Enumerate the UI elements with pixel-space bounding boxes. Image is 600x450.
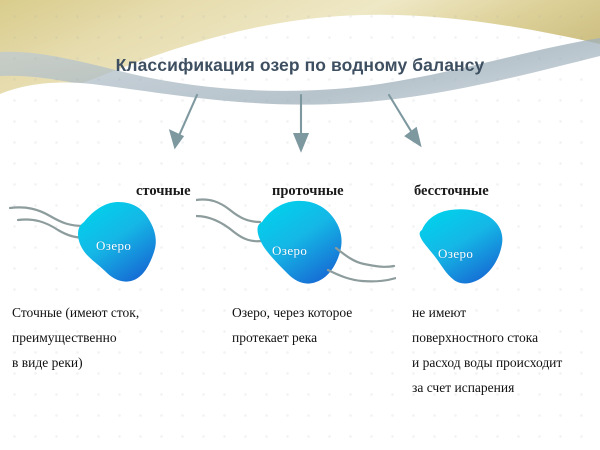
description-line: Сточные (имеют сток, — [12, 300, 212, 325]
arrow-to-besstochnye — [389, 95, 420, 145]
river-inflow-group — [196, 199, 262, 241]
description-line: Озеро, через которое — [232, 300, 412, 325]
arrow-to-sochnye — [171, 95, 198, 147]
description-line: в виде реки) — [12, 350, 212, 375]
lake-diagram-protochnye — [196, 196, 396, 296]
lake-diagram-stochnye — [8, 196, 193, 296]
description-protochnye: Озеро, через которое протекает река — [232, 300, 412, 350]
page-title: Классификация озер по водному балансу — [0, 55, 600, 76]
river-line-group — [10, 207, 88, 238]
description-line: поверхностного стока — [412, 325, 598, 350]
description-stochnye: Сточные (имеют сток, преимущественно в в… — [12, 300, 212, 375]
arrow-to-protochnye — [295, 95, 308, 150]
lake-shape — [420, 209, 503, 283]
yellow-swoosh-band — [0, 0, 600, 100]
description-besstochnye: не имеют поверхностного стока и расход в… — [412, 300, 598, 400]
description-line: не имеют — [412, 300, 598, 325]
lake-shape — [78, 202, 156, 282]
left-color-wash — [0, 0, 64, 96]
description-line: за счет испарения — [412, 375, 598, 400]
description-line: преимущественно — [12, 325, 212, 350]
description-line: и расход воды происходит — [412, 350, 598, 375]
lake-diagram-besstochnye — [400, 196, 540, 296]
description-line: протекает река — [232, 325, 412, 350]
slide-canvas: Классификация озер по водному балансу ст… — [0, 0, 600, 450]
